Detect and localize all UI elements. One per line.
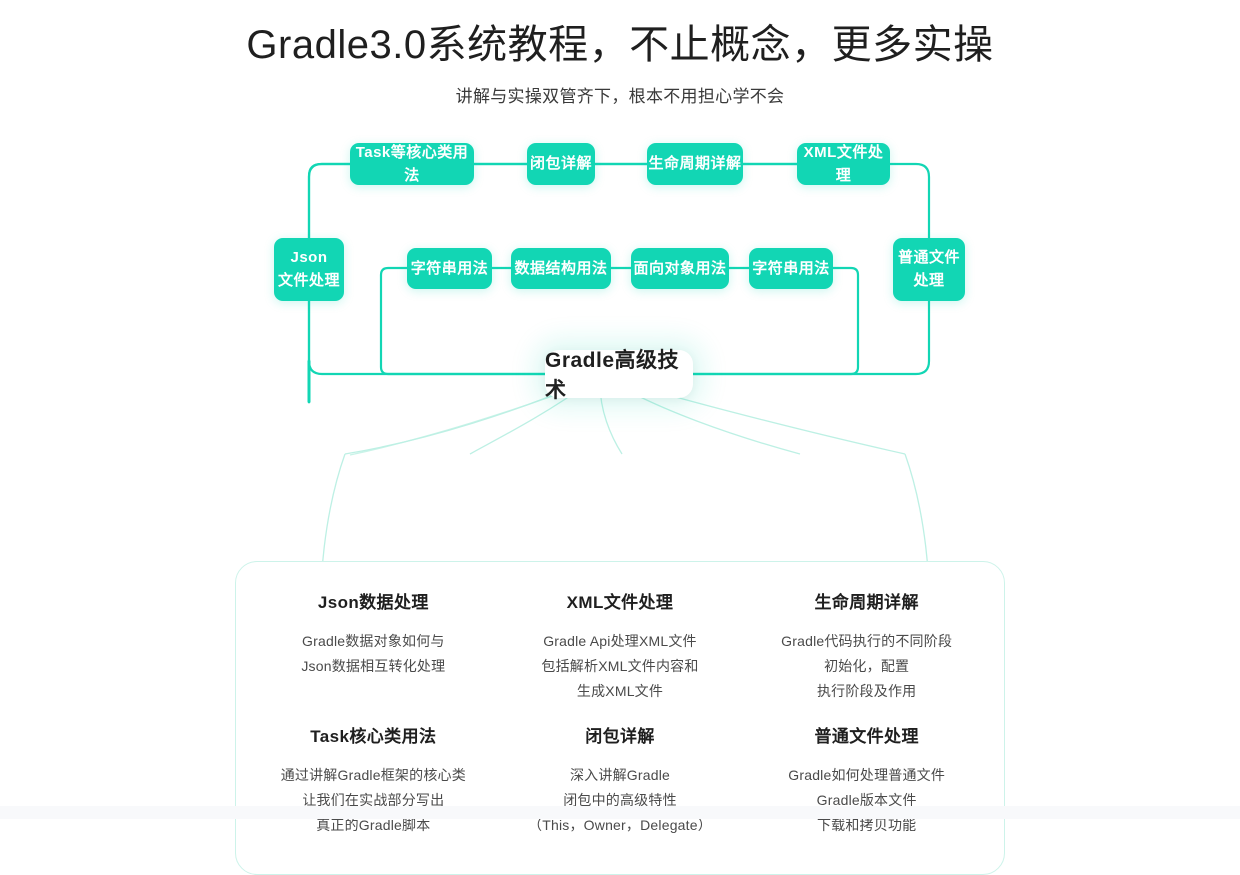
detail-item-title: Task核心类用法 [256, 722, 491, 747]
page-header: Gradle3.0系统教程，不止概念，更多实操 讲解与实操双管齐下，根本不用担心… [0, 0, 1240, 107]
diagram-node-json[interactable]: Json 文件处理 [274, 238, 344, 301]
node-label: 字符串用法 [752, 257, 830, 280]
node-label: Task等核心类用法 [350, 141, 474, 188]
detail-item-description: Gradle数据对象如何与 Json数据相互转化处理 [256, 629, 491, 679]
diagram-node-lifecycle[interactable]: 生命周期详解 [647, 143, 743, 185]
node-label: Json 文件处理 [278, 247, 340, 292]
detail-item-title: 普通文件处理 [749, 722, 984, 747]
detail-item-title: XML文件处理 [503, 588, 738, 613]
node-label: 普通文件 处理 [898, 247, 960, 292]
center-node-label: Gradle高级技术 [545, 344, 693, 404]
detail-item-xml: XML文件处理 Gradle Api处理XML文件 包括解析XML文件内容和 生… [497, 588, 744, 722]
node-label: XML文件处理 [797, 141, 890, 188]
diagram-node-closure[interactable]: 闭包详解 [527, 143, 595, 185]
page-title: Gradle3.0系统教程，不止概念，更多实操 [0, 0, 1240, 70]
diagram-node-string-usage-1[interactable]: 字符串用法 [407, 248, 492, 289]
detail-item-title: 生命周期详解 [749, 588, 984, 613]
connector-skeleton [309, 164, 929, 374]
detail-item-description: 深入讲解Gradle 闭包中的高级特性 （This，Owner，Delegate… [503, 763, 738, 838]
detail-item-title: Json数据处理 [256, 588, 491, 613]
node-label: 生命周期详解 [648, 152, 741, 175]
detail-item-json: Json数据处理 Gradle数据对象如何与 Json数据相互转化处理 [250, 588, 497, 722]
detail-item-task: Task核心类用法 通过讲解Gradle框架的核心类 让我们在实战部分写出 真正… [250, 722, 497, 856]
node-label: 闭包详解 [530, 152, 592, 175]
detail-item-description: 通过讲解Gradle框架的核心类 让我们在实战部分写出 真正的Gradle脚本 [256, 763, 491, 838]
bottom-strip [0, 806, 1240, 819]
page-subtitle: 讲解与实操双管齐下，根本不用担心学不会 [0, 70, 1240, 107]
diagram-center-node[interactable]: Gradle高级技术 [545, 350, 693, 398]
detail-item-description: Gradle代码执行的不同阶段 初始化，配置 执行阶段及作用 [749, 629, 984, 704]
mindmap-diagram: Task等核心类用法 闭包详解 生命周期详解 XML文件处理 Json 文件处理… [0, 110, 1240, 819]
detail-item-description: Gradle如何处理普通文件 Gradle版本文件 下载和拷贝功能 [749, 763, 984, 838]
node-label: 面向对象用法 [633, 257, 726, 280]
detail-card: Json数据处理 Gradle数据对象如何与 Json数据相互转化处理 XML文… [235, 561, 1005, 875]
diagram-node-xml[interactable]: XML文件处理 [797, 143, 890, 185]
diagram-node-data-structure[interactable]: 数据结构用法 [511, 248, 611, 289]
detail-item-normal-file: 普通文件处理 Gradle如何处理普通文件 Gradle版本文件 下载和拷贝功能 [743, 722, 990, 856]
detail-item-closure: 闭包详解 深入讲解Gradle 闭包中的高级特性 （This，Owner，Del… [497, 722, 744, 856]
diagram-node-normal-file[interactable]: 普通文件 处理 [893, 238, 965, 301]
node-label: 字符串用法 [411, 257, 489, 280]
node-label: 数据结构用法 [514, 257, 607, 280]
diagram-node-oop-usage[interactable]: 面向对象用法 [631, 248, 729, 289]
diagram-node-task[interactable]: Task等核心类用法 [350, 143, 474, 185]
diagram-node-string-usage-2[interactable]: 字符串用法 [749, 248, 833, 289]
detail-item-lifecycle: 生命周期详解 Gradle代码执行的不同阶段 初始化，配置 执行阶段及作用 [743, 588, 990, 722]
detail-item-description: Gradle Api处理XML文件 包括解析XML文件内容和 生成XML文件 [503, 629, 738, 704]
detail-item-title: 闭包详解 [503, 722, 738, 747]
